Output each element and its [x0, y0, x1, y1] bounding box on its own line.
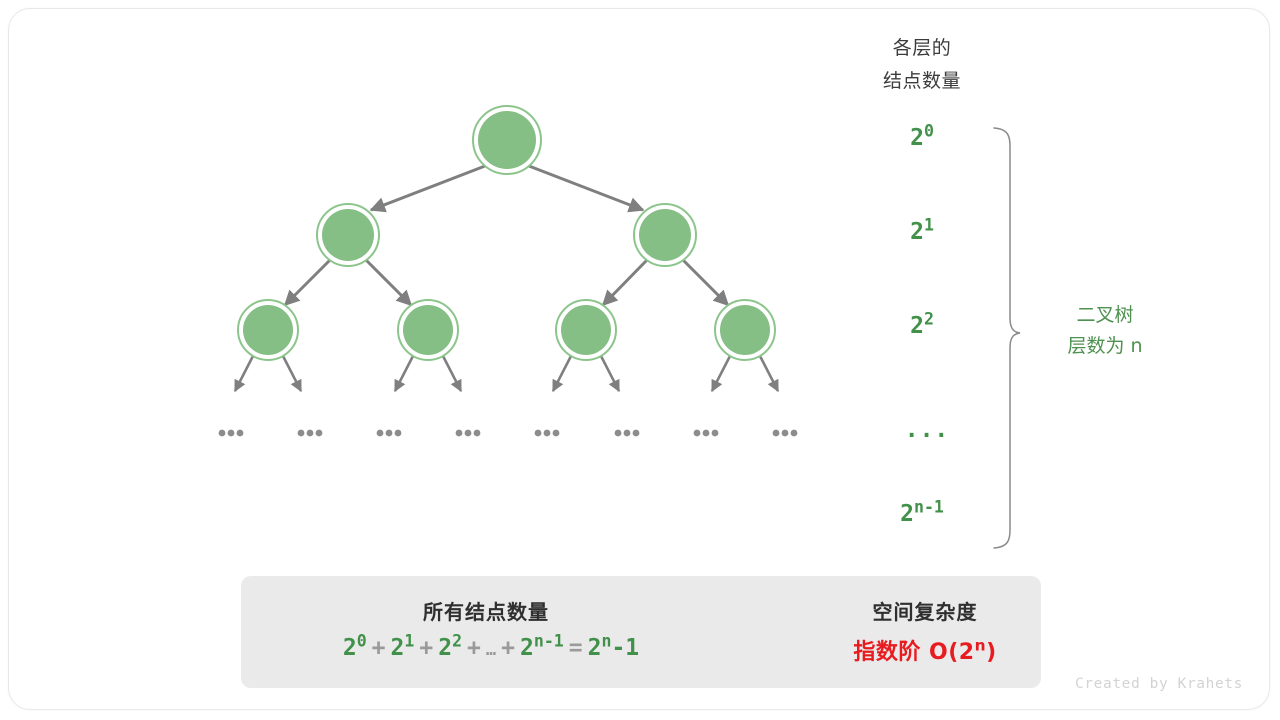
- level-count-ellipsis: ...: [905, 417, 950, 443]
- figure-canvas: 各层的 结点数量 20 21 22 ... 2n-1 二叉树 层数为 n 所有结…: [0, 0, 1280, 720]
- formula-plus-2: +: [462, 635, 486, 661]
- level-count-0: 20: [910, 125, 934, 151]
- summary-right-title: 空间复杂度: [800, 596, 1050, 625]
- formula-plus-0: +: [367, 635, 391, 661]
- formula-ellipsis: …: [486, 640, 496, 660]
- formula-term-0: 20: [343, 635, 367, 661]
- brace-annotation-line1: 二叉树: [1030, 300, 1180, 331]
- formula-equals: =: [564, 635, 588, 661]
- brace-annotation: 二叉树 层数为 n: [1030, 300, 1180, 362]
- summary-result-tail: ): [986, 640, 997, 665]
- formula-term-1: 21: [391, 635, 415, 661]
- formula-term-2: 22: [438, 635, 462, 661]
- level-count-last: 2n-1: [900, 501, 944, 527]
- summary-formula: 20+21+22+…+2n-1=2n-1: [241, 635, 741, 661]
- summary-left-title: 所有结点数量: [241, 596, 731, 625]
- level-count-1: 21: [910, 219, 934, 245]
- formula-term-4: 2n-1: [520, 635, 564, 661]
- summary-result-text: 指数阶 O(2: [853, 640, 974, 665]
- formula-plus-3: +: [496, 635, 520, 661]
- formula-plus-1: +: [414, 635, 438, 661]
- column-header: 各层的 结点数量: [852, 32, 992, 98]
- column-header-line2: 结点数量: [852, 65, 992, 98]
- credit-text: Created by Krahets: [1075, 676, 1243, 692]
- level-count-2: 22: [910, 313, 934, 339]
- brace-annotation-line2: 层数为 n: [1030, 331, 1180, 362]
- summary-result-exp: n: [975, 637, 986, 655]
- column-header-line1: 各层的: [852, 32, 992, 65]
- formula-result: 2n-1: [588, 635, 640, 661]
- summary-result: 指数阶 O(2n): [800, 634, 1050, 666]
